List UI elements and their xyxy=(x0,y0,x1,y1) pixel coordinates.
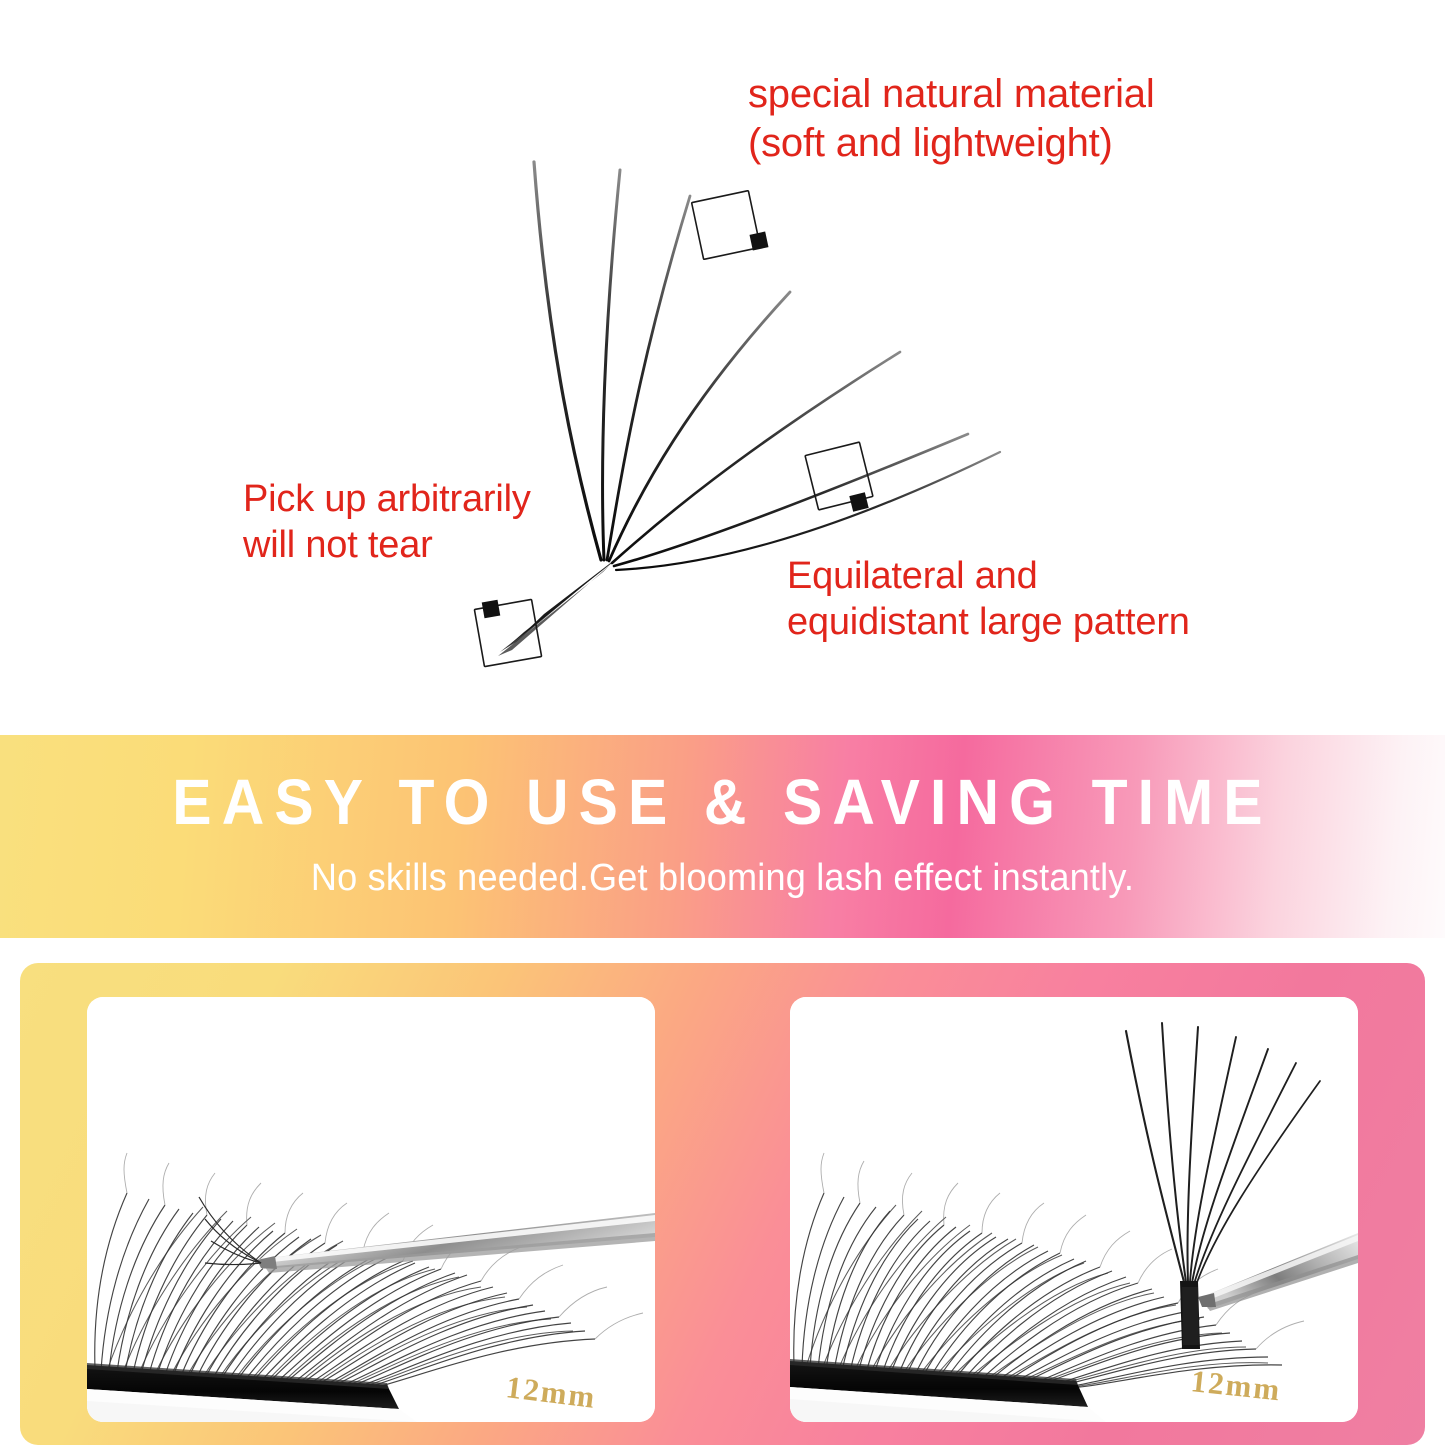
lash-fan-illustration xyxy=(0,0,1445,735)
callout-label-material: special natural material (soft and light… xyxy=(748,70,1155,168)
callout-label-pattern: Equilateral and equidistant large patter… xyxy=(787,553,1190,646)
promo-banner-section: EASY TO USE & SAVING TIME No skills need… xyxy=(0,735,1445,938)
lash-strand-5 xyxy=(612,352,900,563)
callout-marker-material xyxy=(692,191,769,260)
photo-gallery-section: 12mm xyxy=(20,963,1425,1445)
lash-strand-group xyxy=(534,162,1000,570)
photo-card-lash-tray-tweezers[interactable]: 12mm xyxy=(87,997,655,1422)
feature-diagram-section: special natural material (soft and light… xyxy=(0,0,1445,735)
callout-label-pickup: Pick up arbitrarily will not tear xyxy=(243,476,531,569)
lifted-fan-base xyxy=(1180,1281,1200,1349)
lash-strand-4 xyxy=(609,292,790,561)
lash-strand-6 xyxy=(614,434,968,566)
lash-strand-3 xyxy=(607,196,690,560)
photo-card-lash-fan-lifted[interactable]: 12mm xyxy=(790,997,1358,1422)
photo-lash-fan-lifted-image: 12mm xyxy=(790,997,1358,1422)
photo-lash-tray-tweezers-image: 12mm xyxy=(87,997,655,1422)
lash-strand-1 xyxy=(534,162,601,560)
promo-headline: EASY TO USE & SAVING TIME xyxy=(58,765,1387,839)
promo-subline: No skills needed.Get blooming lash effec… xyxy=(36,857,1409,900)
lash-fan-base xyxy=(498,556,621,656)
